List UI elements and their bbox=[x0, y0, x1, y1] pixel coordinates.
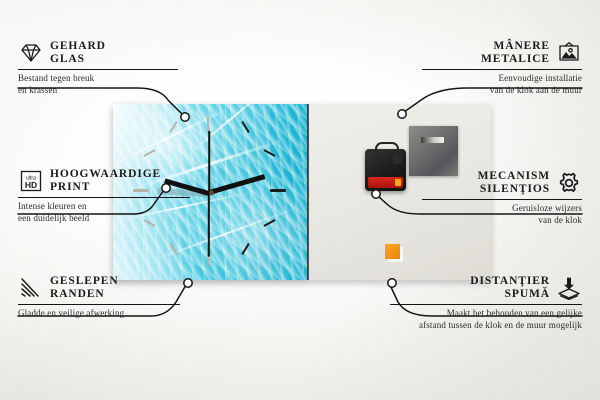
foam-spacer-icon bbox=[556, 276, 582, 300]
callout-rule bbox=[18, 69, 178, 70]
callout-header: DISTANŢIER SPUMĂ bbox=[382, 275, 582, 301]
callout-subtitle: Intense kleuren en een duidelijk beeld bbox=[18, 201, 198, 224]
callout-subtitle: Maakt het behouden van een gelijke afsta… bbox=[382, 308, 582, 331]
infographic-canvas: GEHARD GLAS Bestand tegen breuk en krass… bbox=[0, 0, 600, 400]
callout-mecanism-silentios[interactable]: MECANISM SILENŢIOS Geruisloze wijzers va… bbox=[414, 170, 582, 226]
callout-subtitle: Geruisloze wijzers van de klok bbox=[414, 203, 582, 226]
hanger-slot bbox=[421, 137, 444, 143]
callout-rule bbox=[422, 199, 582, 200]
clock-hand-second bbox=[208, 192, 210, 256]
callout-title: MÂNERE METALICE bbox=[481, 40, 550, 66]
mechanism-dial bbox=[393, 155, 402, 164]
callout-distantier-spuma[interactable]: DISTANŢIER SPUMĂ Maakt het behouden van … bbox=[382, 275, 582, 331]
clock-tick-12 bbox=[207, 116, 209, 132]
gear-icon bbox=[556, 171, 582, 195]
beveled-edges-icon bbox=[18, 276, 44, 300]
mechanism-hook bbox=[375, 142, 399, 154]
callout-header: GEHARD GLAS bbox=[18, 40, 186, 66]
callout-rule bbox=[18, 304, 180, 305]
callout-title: GEHARD GLAS bbox=[50, 40, 106, 66]
callout-rule bbox=[390, 304, 582, 305]
callout-title: DISTANŢIER SPUMĂ bbox=[470, 275, 550, 301]
callout-header: GESLEPEN RANDEN bbox=[18, 275, 188, 301]
foam-spacer-part bbox=[385, 244, 400, 259]
callout-title: MECANISM SILENŢIOS bbox=[478, 170, 550, 196]
clock-mechanism-part bbox=[365, 149, 406, 191]
callout-subtitle: Gladde en veilige afwerking bbox=[18, 308, 188, 320]
callout-subtitle: Eenvoudige installatie van de klok aan d… bbox=[414, 73, 582, 96]
diamond-icon bbox=[18, 41, 44, 65]
clock-tick-3 bbox=[270, 189, 286, 192]
picture-hanger-icon bbox=[556, 41, 582, 65]
callout-header: MÂNERE METALICE bbox=[414, 40, 582, 66]
clock-center-hub bbox=[209, 190, 214, 195]
callout-hoogwaardige-print[interactable]: ultra HD HOOGWAARDIGE PRINT Intense kleu… bbox=[18, 168, 198, 224]
callout-title: GESLEPEN RANDEN bbox=[50, 275, 119, 301]
clock-hand-second-tail bbox=[208, 130, 210, 192]
metal-hanger-part bbox=[409, 126, 458, 176]
callout-header: MECANISM SILENŢIOS bbox=[414, 170, 582, 196]
callout-header: ultra HD HOOGWAARDIGE PRINT bbox=[18, 168, 198, 194]
callout-geslepen-randen[interactable]: GESLEPEN RANDEN Gladde en veilige afwerk… bbox=[18, 275, 188, 320]
callout-manere-metalice[interactable]: MÂNERE METALICE Eenvoudige installatie v… bbox=[414, 40, 582, 96]
callout-title: HOOGWAARDIGE PRINT bbox=[50, 168, 161, 194]
callout-subtitle: Bestand tegen breuk en krassen bbox=[18, 73, 186, 96]
ultra-hd-icon: ultra HD bbox=[18, 169, 44, 193]
callout-gehard-glas[interactable]: GEHARD GLAS Bestand tegen breuk en krass… bbox=[18, 40, 186, 96]
battery-part bbox=[368, 177, 403, 188]
callout-rule bbox=[18, 197, 190, 198]
callout-rule bbox=[422, 69, 582, 70]
svg-text:HD: HD bbox=[25, 180, 37, 190]
